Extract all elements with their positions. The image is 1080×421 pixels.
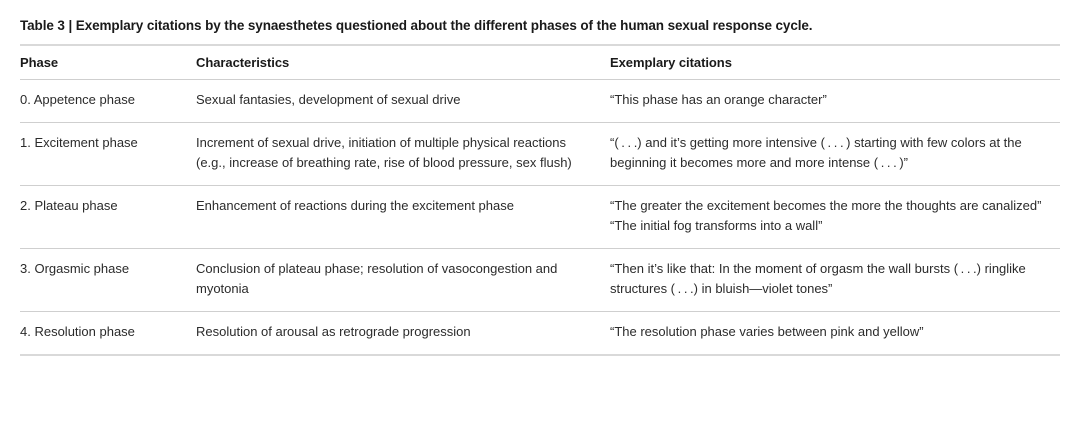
table-row: 1. Excitement phase Increment of sexual …	[20, 123, 1060, 186]
table-header-row: Phase Characteristics Exemplary citation…	[20, 45, 1060, 80]
citation-line: “( . . .) and it’s getting more intensiv…	[610, 133, 1046, 173]
citation-line: “The resolution phase varies between pin…	[610, 322, 1046, 342]
cell-characteristics: Sexual fantasies, development of sexual …	[196, 80, 610, 123]
cell-phase: 0. Appetence phase	[20, 80, 196, 123]
column-header-characteristics: Characteristics	[196, 45, 610, 80]
citation-line: “This phase has an orange character”	[610, 90, 1046, 110]
cell-characteristics: Conclusion of plateau phase; resolution …	[196, 249, 610, 312]
table-caption: Table 3 | Exemplary citations by the syn…	[20, 0, 1060, 44]
citation-line: “Then it’s like that: In the moment of o…	[610, 259, 1046, 299]
table-row: 4. Resolution phase Resolution of arousa…	[20, 312, 1060, 356]
table-row: 0. Appetence phase Sexual fantasies, dev…	[20, 80, 1060, 123]
column-header-citations: Exemplary citations	[610, 45, 1060, 80]
exemplary-citations-table: Phase Characteristics Exemplary citation…	[20, 44, 1060, 356]
cell-phase: 3. Orgasmic phase	[20, 249, 196, 312]
cell-citations: “Then it’s like that: In the moment of o…	[610, 249, 1060, 312]
cell-citations: “The greater the excitement becomes the …	[610, 186, 1060, 249]
cell-characteristics: Enhancement of reactions during the exci…	[196, 186, 610, 249]
cell-phase: 1. Excitement phase	[20, 123, 196, 186]
cell-citations: “( . . .) and it’s getting more intensiv…	[610, 123, 1060, 186]
cell-citations: “The resolution phase varies between pin…	[610, 312, 1060, 356]
table-figure: Table 3 | Exemplary citations by the syn…	[0, 0, 1080, 421]
cell-characteristics: Resolution of arousal as retrograde prog…	[196, 312, 610, 356]
column-header-phase: Phase	[20, 45, 196, 80]
cell-characteristics: Increment of sexual drive, initiation of…	[196, 123, 610, 186]
cell-phase: 4. Resolution phase	[20, 312, 196, 356]
table-header: Phase Characteristics Exemplary citation…	[20, 45, 1060, 80]
cell-citations: “This phase has an orange character”	[610, 80, 1060, 123]
citation-line: “The greater the excitement becomes the …	[610, 196, 1046, 216]
table-row: 3. Orgasmic phase Conclusion of plateau …	[20, 249, 1060, 312]
table-row: 2. Plateau phase Enhancement of reaction…	[20, 186, 1060, 249]
table-body: 0. Appetence phase Sexual fantasies, dev…	[20, 80, 1060, 356]
citation-line: “The initial fog transforms into a wall”	[610, 216, 1046, 236]
cell-phase: 2. Plateau phase	[20, 186, 196, 249]
